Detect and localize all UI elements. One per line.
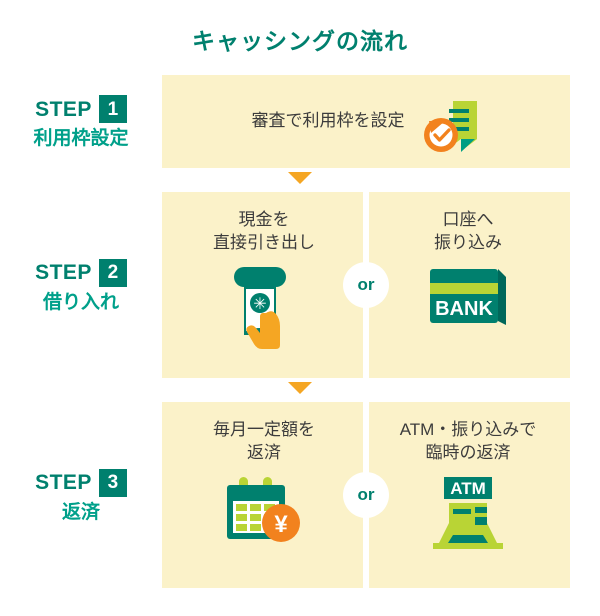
step3-cell1-text-line1: 毎月一定額を — [213, 419, 315, 442]
step-row-1: STEP 1 利用枠設定 審査で利用枠を設定 — [0, 75, 600, 168]
step-panel-3: 毎月一定額を 返済 — [162, 402, 570, 588]
step2-cell1-text-line1: 現金を — [213, 209, 315, 232]
step2-cell2-text: 口座へ 振り込み — [434, 209, 502, 255]
step1-cell-screening: 審査で利用枠を設定 — [162, 75, 570, 168]
step2-cell2-text-line1: 口座へ — [434, 209, 502, 232]
flow-arrow-2 — [288, 382, 312, 394]
atm-machine-icon: ATM — [427, 475, 509, 551]
step-heading-3: STEP 3 — [35, 469, 127, 497]
step-number-badge-1: 1 — [99, 95, 127, 123]
step-label-2: STEP 2 借り入れ — [0, 192, 162, 378]
step2-cell-cash-withdraw: 現金を 直接引き出し ✳ — [162, 192, 366, 378]
step-label-3: STEP 3 返済 — [0, 402, 162, 588]
step-word-2: STEP — [35, 262, 92, 283]
step-word-1: STEP — [35, 99, 92, 120]
step-word-3: STEP — [35, 472, 92, 493]
step3-cell2-text-line1: ATM・振り込みで — [400, 419, 537, 442]
step1-cell-text: 審査で利用枠を設定 — [252, 110, 405, 133]
step-label-1: STEP 1 利用枠設定 — [0, 75, 162, 168]
step3-cell1-text: 毎月一定額を 返済 — [213, 419, 315, 465]
step-sublabel-1: 利用枠設定 — [33, 129, 128, 148]
step-number-badge-3: 3 — [99, 469, 127, 497]
step3-cell-monthly-repay: 毎月一定額を 返済 — [162, 402, 366, 588]
step2-cell2-text-line2: 振り込み — [434, 232, 502, 255]
step-heading-1: STEP 1 — [35, 95, 127, 123]
step3-cell-atm-repay: ATM・振り込みで 臨時の返済 ATM — [366, 402, 570, 588]
step-panel-2: 現金を 直接引き出し ✳ 口座へ — [162, 192, 570, 378]
step3-cell2-text-line2: 臨時の返済 — [400, 442, 537, 465]
step-row-2: STEP 2 借り入れ 現金を 直接引き出し ✳ — [0, 192, 600, 378]
atm-icon-label: ATM — [450, 479, 486, 498]
cashing-flow-diagram: STEP 1 利用枠設定 審査で利用枠を設定 — [0, 0, 600, 616]
step2-cell1-text: 現金を 直接引き出し — [213, 209, 315, 255]
step2-cell1-text-line2: 直接引き出し — [213, 232, 315, 255]
step-sublabel-2: 借り入れ — [43, 293, 119, 312]
step-heading-2: STEP 2 — [35, 259, 127, 287]
bank-passbook-icon: BANK — [426, 265, 510, 329]
step3-cell2-text: ATM・振り込みで 臨時の返済 — [400, 419, 537, 465]
step-number-badge-2: 2 — [99, 259, 127, 287]
step-sublabel-3: 返済 — [62, 503, 100, 522]
step-row-3: STEP 3 返済 毎月一定額を 返済 — [0, 402, 600, 588]
calendar-yen-icon: ¥ — [223, 475, 305, 545]
atm-cash-withdraw-icon: ✳ — [226, 265, 302, 349]
flow-arrow-1 — [288, 172, 312, 184]
step-panel-1: 審査で利用枠を設定 — [162, 75, 570, 168]
step2-or-badge: or — [343, 262, 389, 308]
step3-cell1-text-line2: 返済 — [213, 442, 315, 465]
yen-icon-label: ¥ — [274, 511, 288, 538]
step3-or-badge: or — [343, 472, 389, 518]
step2-cell-bank-transfer: 口座へ 振り込み BANK — [366, 192, 570, 378]
document-clock-icon — [419, 99, 481, 155]
svg-text:✳: ✳ — [253, 296, 266, 313]
bank-icon-label: BANK — [435, 298, 493, 320]
